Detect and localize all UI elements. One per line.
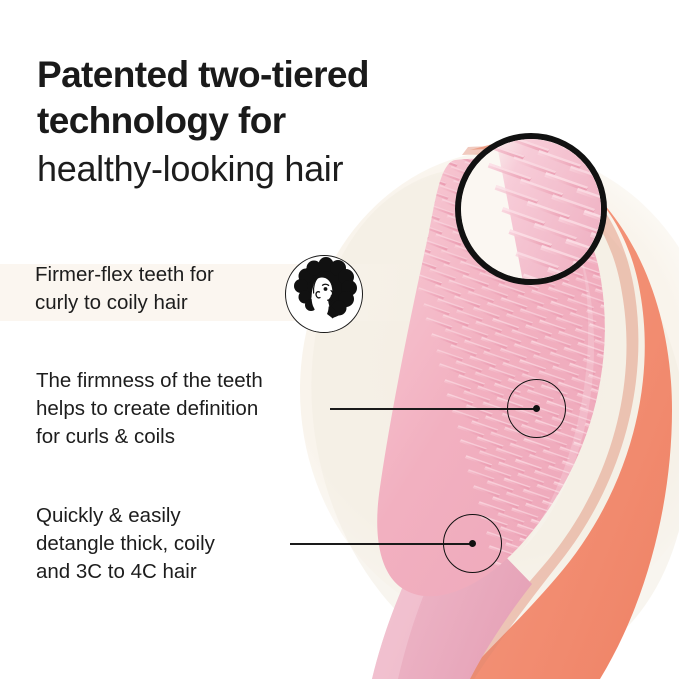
magnified-bristles-circle [455, 133, 607, 285]
callout-3-line-3: and 3C to 4C hair [36, 558, 215, 586]
headline-line-1: Patented two-tiered [37, 52, 467, 98]
headline-line-3: healthy-looking hair [37, 144, 467, 194]
callout-firmness-definition: The firmness of the teeth helps to creat… [36, 367, 263, 451]
leader-line-definition [330, 408, 535, 410]
callout-3-line-1: Quickly & easily [36, 502, 215, 530]
callout-quick-detangle: Quickly & easily detangle thick, coily a… [36, 502, 215, 586]
callout-3-line-2: detangle thick, coily [36, 530, 215, 558]
product-infographic: Patented two-tiered technology for healt… [0, 0, 679, 679]
callout-2-line-1: The firmness of the teeth [36, 367, 263, 395]
afro-woman-icon [285, 255, 363, 333]
callout-1-line-2: curly to coily hair [35, 289, 214, 317]
callout-2-line-2: helps to create definition [36, 395, 263, 423]
marker-dot [469, 540, 476, 547]
headline-line-2: technology for [37, 98, 467, 144]
callout-1-line-1: Firmer-flex teeth for [35, 261, 214, 289]
marker-dot [533, 405, 540, 412]
callout-2-line-3: for curls & coils [36, 423, 263, 451]
callout-firmer-flex: Firmer-flex teeth for curly to coily hai… [35, 261, 214, 317]
marker-circle-detangle [443, 514, 502, 573]
page-title: Patented two-tiered technology for healt… [37, 52, 467, 194]
marker-circle-definition [507, 379, 566, 438]
